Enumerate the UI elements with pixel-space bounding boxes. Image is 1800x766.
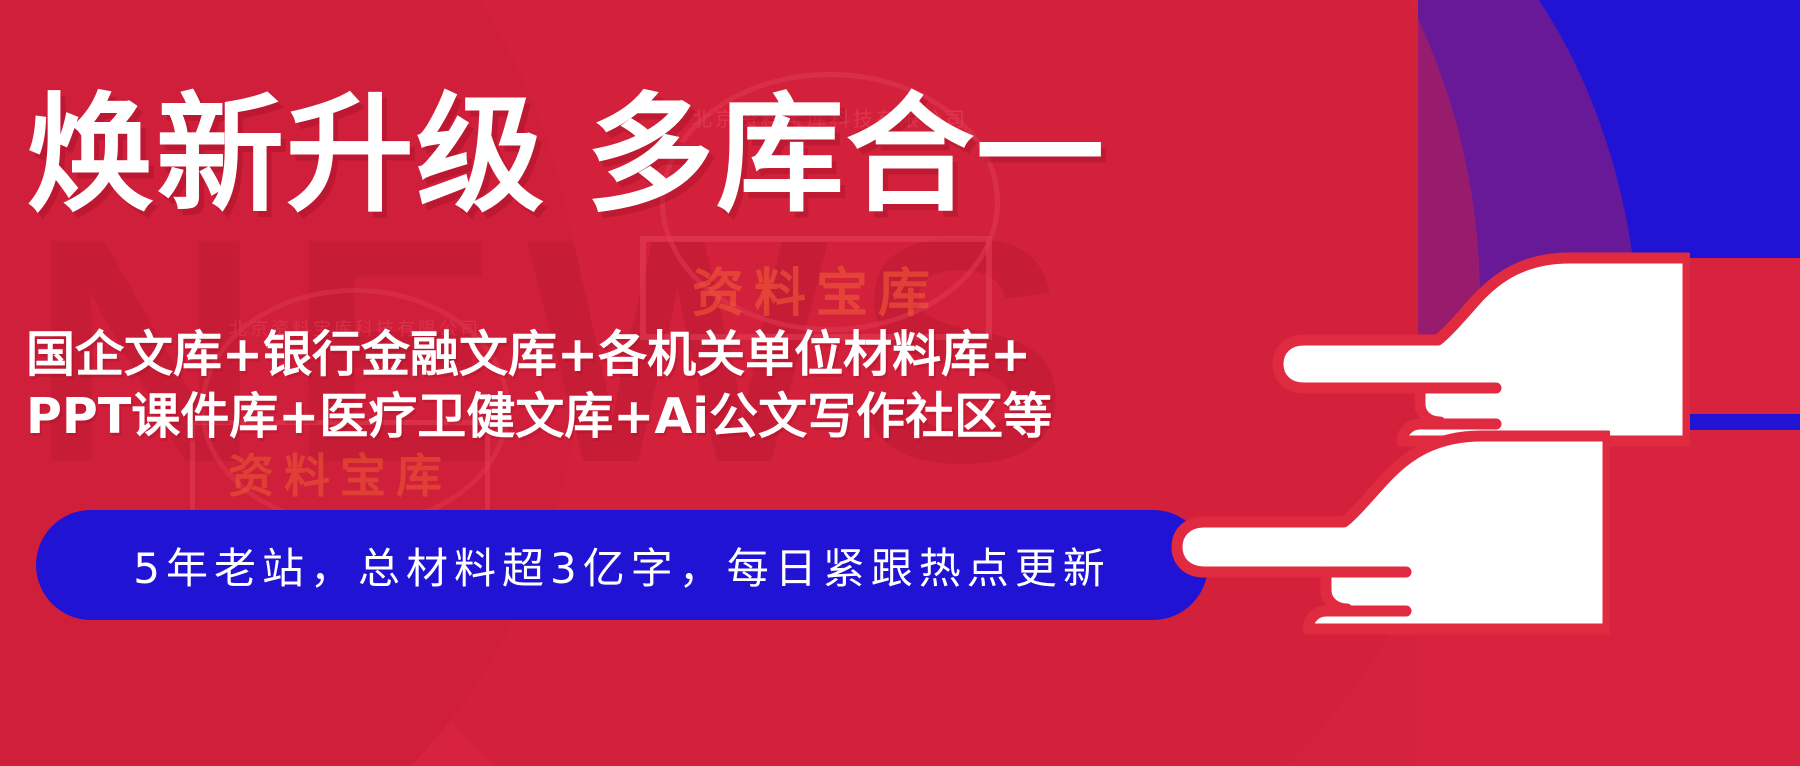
highlight-pill-text: 5年老站，总材料超3亿字，每日紧跟热点更新	[133, 535, 1110, 596]
pointing-hand-left-icon-bottom	[1170, 400, 1610, 645]
headline-part-2: 多库合一	[586, 81, 1106, 230]
headline-part-1: 焕新升级	[26, 81, 546, 230]
promo-banner: NEWS 北京资料宝库科技有限公司 资料宝库 北京资料宝库科技有限公司 资料宝库…	[0, 0, 1800, 766]
banner-content: 焕新升级多库合一 国企文库+银行金融文库+各机关单位材料库+ PPT课件库+医疗…	[0, 0, 1418, 766]
body-line-2: PPT课件库+医疗卫健文库+Ai公文写作社区等	[26, 392, 1052, 441]
body-line-1: 国企文库+银行金融文库+各机关单位材料库+	[26, 330, 1031, 379]
headline: 焕新升级多库合一	[26, 92, 1106, 220]
highlight-pill: 5年老站，总材料超3亿字，每日紧跟热点更新	[36, 510, 1208, 620]
